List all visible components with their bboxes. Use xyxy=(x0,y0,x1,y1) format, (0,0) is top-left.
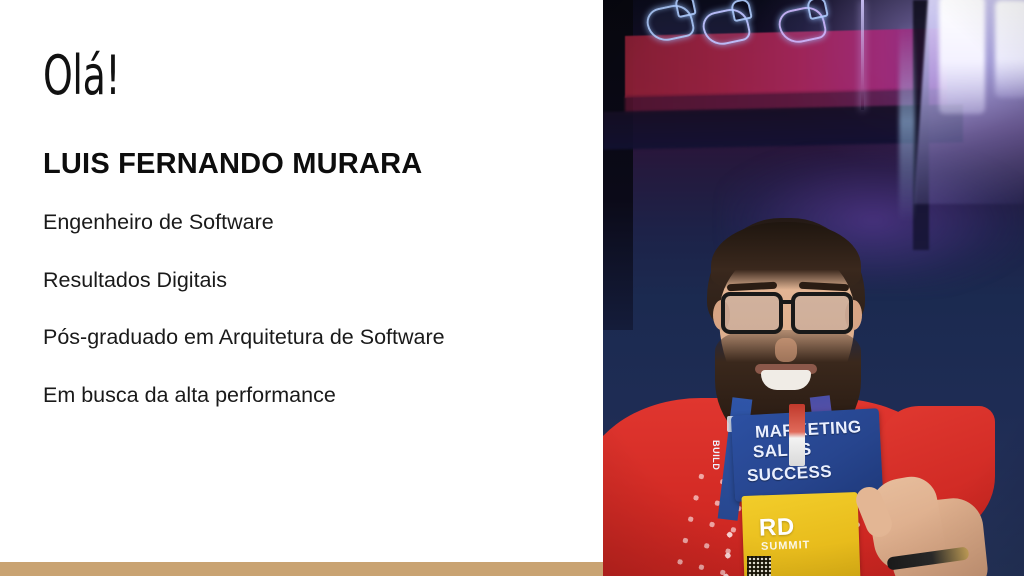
person-smile xyxy=(761,370,811,390)
eyeglasses-lens xyxy=(721,292,783,334)
page-title: Olá! xyxy=(43,48,120,105)
badge-clip xyxy=(789,404,805,466)
light-beam xyxy=(861,0,864,110)
neon-highlight xyxy=(995,0,1024,98)
speaker-name: LUIS FERNANDO MURARA xyxy=(43,148,422,181)
speaker-photo: BUILD SUCCESS MARKETING SALES SUCCESS RD… xyxy=(603,0,1024,576)
event-badge-subtitle: SUMMIT xyxy=(761,539,811,553)
person-nose xyxy=(775,338,797,362)
list-item: Engenheiro de Software xyxy=(43,212,583,234)
text-column: Olá! LUIS FERNANDO MURARA Engenheiro de … xyxy=(0,0,603,576)
lanyard-text-left: BUILD xyxy=(711,440,721,471)
list-item: Em busca da alta performance xyxy=(43,385,583,407)
bio-list: Engenheiro de Software Resultados Digita… xyxy=(43,212,583,406)
list-item: Resultados Digitais xyxy=(43,270,583,292)
accent-bar xyxy=(0,562,603,576)
qr-code xyxy=(747,556,771,576)
eyeglasses-lens xyxy=(791,292,853,334)
eyeglasses-bridge xyxy=(781,300,795,304)
event-badge-title: RD xyxy=(759,513,796,542)
neon-column xyxy=(899,22,915,222)
presentation-slide: Olá! LUIS FERNANDO MURARA Engenheiro de … xyxy=(0,0,1024,576)
neon-highlight xyxy=(939,0,985,114)
list-item: Pós-graduado em Arquitetura de Software xyxy=(43,327,583,349)
